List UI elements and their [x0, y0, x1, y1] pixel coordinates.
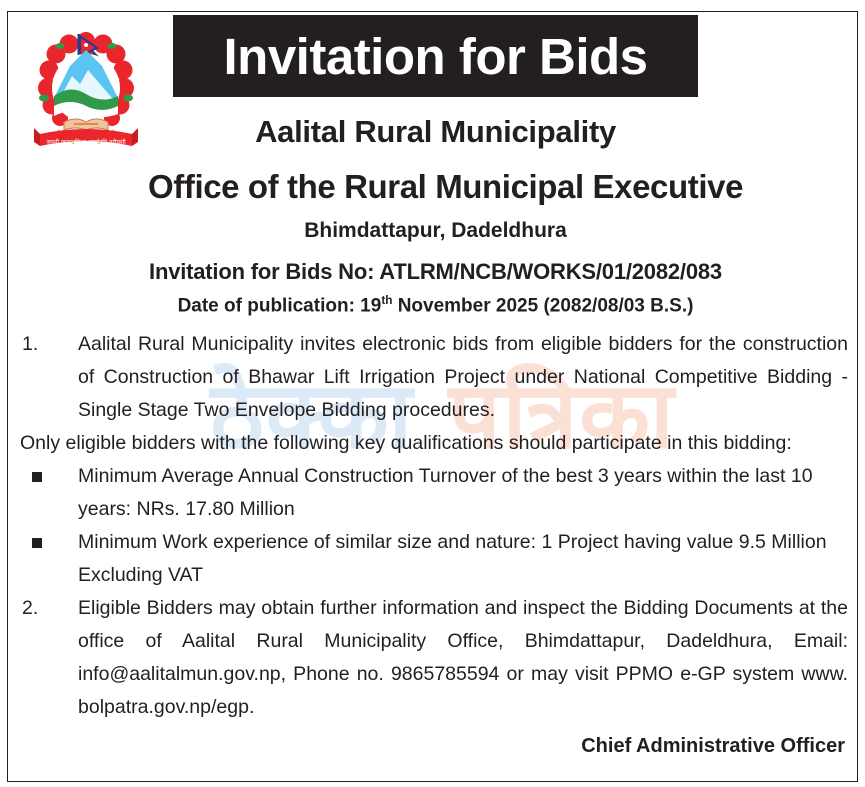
office-name: Office of the Rural Municipal Executive: [148, 170, 723, 205]
svg-text:जननी जन्मभूमिश्च स्वर्गादपि गर: जननी जन्मभूमिश्च स्वर्गादपि गरीयसी: [46, 138, 126, 146]
clause-2-text: Eligible Bidders may obtain further info…: [78, 597, 848, 718]
clause-1-number: 1.: [22, 328, 52, 361]
notice-body: 1. Aalital Rural Municipality invites el…: [8, 328, 858, 724]
publication-date: Date of publication: 19th November 2025 …: [148, 295, 723, 316]
title-banner: Invitation for Bids: [173, 15, 698, 97]
office-address: Bhimdattapur, Dadeldhura: [148, 220, 723, 242]
date-ordinal-suffix: th: [381, 294, 392, 307]
clause-1: 1. Aalital Rural Municipality invites el…: [20, 328, 858, 427]
signatory-title: Chief Administrative Officer: [8, 735, 858, 758]
qualification-item-2: Minimum Work experience of similar size …: [20, 526, 858, 592]
date-suffix: November 2025 (2082/08/03 B.S.): [392, 295, 693, 316]
clause-1-text: Aalital Rural Municipality invites elect…: [78, 333, 848, 421]
date-prefix: Date of publication: 19: [178, 295, 382, 316]
ifb-number: Invitation for Bids No: ATLRM/NCB/WORKS/…: [148, 260, 723, 283]
qualification-item-2-text: Minimum Work experience of similar size …: [78, 531, 827, 586]
bid-notice-frame: ठेक्का पत्रिका: [7, 11, 858, 782]
qualification-item-1: Minimum Average Annual Construction Turn…: [20, 460, 858, 526]
banner-title-text: Invitation for Bids: [224, 31, 648, 82]
qualification-intro: Only eligible bidders with the following…: [20, 427, 848, 460]
qualification-item-1-text: Minimum Average Annual Construction Turn…: [78, 465, 813, 520]
square-bullet-icon: [32, 538, 42, 548]
clause-2-number: 2.: [22, 592, 52, 625]
organization-name: Aalital Rural Municipality: [148, 116, 723, 149]
nepal-coat-of-arms-icon: जननी जन्मभूमिश्च स्वर्गादपि गरीयसी: [30, 26, 142, 166]
square-bullet-icon: [32, 472, 42, 482]
clause-2: 2. Eligible Bidders may obtain further i…: [20, 592, 858, 724]
